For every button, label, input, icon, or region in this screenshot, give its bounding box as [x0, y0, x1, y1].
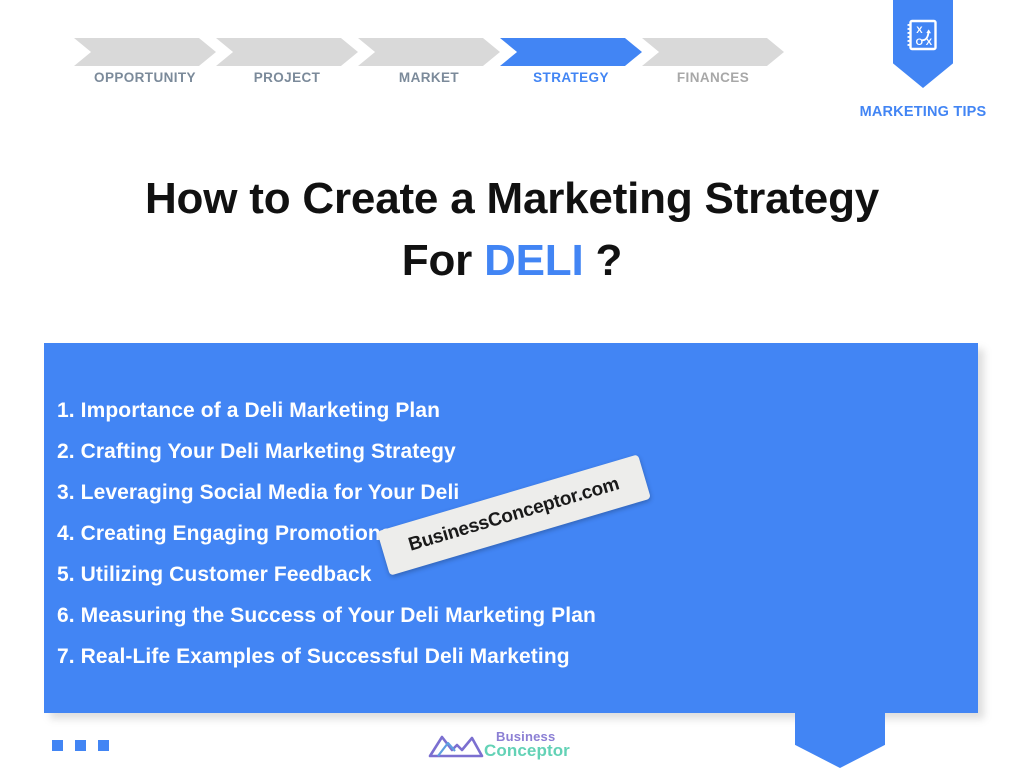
- step-label-project: PROJECT: [216, 70, 358, 85]
- chevron-shape-finances: [642, 38, 784, 66]
- marketing-tips-label: MARKETING TIPS: [849, 104, 997, 120]
- list-item: 7. Real-Life Examples of Successful Deli…: [57, 636, 968, 677]
- footer-logo: Business Conceptor: [428, 728, 598, 764]
- footer-logo-bottom: Conceptor: [484, 741, 570, 761]
- list-item: 5. Utilizing Customer Feedback: [57, 554, 968, 595]
- step-label-market: MARKET: [358, 70, 500, 85]
- chevron-shape-market: [358, 38, 500, 66]
- step-finances[interactable]: FINANCES: [642, 38, 790, 94]
- step-label-strategy: STRATEGY: [500, 70, 642, 85]
- title-suffix: ?: [584, 236, 623, 285]
- svg-text:O: O: [916, 37, 923, 48]
- step-strategy[interactable]: STRATEGY: [500, 38, 648, 94]
- footer-logo-wordmark: Business Conceptor: [484, 728, 598, 764]
- step-market[interactable]: MARKET: [358, 38, 506, 94]
- step-label-finances: FINANCES: [642, 70, 784, 85]
- svg-text:X: X: [916, 25, 923, 36]
- step-label-opportunity: OPPORTUNITY: [74, 70, 216, 85]
- marketing-tips-badge: X O X MARKETING TIPS: [893, 0, 953, 88]
- chevron-shape-strategy: [500, 38, 642, 66]
- mountain-peaks-icon: [428, 732, 484, 760]
- strategy-playbook-icon: X O X: [904, 16, 942, 54]
- chevron-shape-project: [216, 38, 358, 66]
- title-prefix: For: [402, 236, 484, 285]
- list-item: 6. Measuring the Success of Your Deli Ma…: [57, 595, 968, 636]
- decor-squares: [52, 740, 109, 751]
- list-item: 1. Importance of a Deli Marketing Plan: [57, 390, 968, 431]
- slide-canvas: OPPORTUNITY PROJECT MARKET STRATEGY FINA…: [0, 0, 1024, 768]
- decor-square: [52, 740, 63, 751]
- title-line-2: For DELI ?: [62, 230, 962, 292]
- chevron-shape-opportunity: [74, 38, 216, 66]
- progress-steps: OPPORTUNITY PROJECT MARKET STRATEGY FINA…: [74, 38, 814, 94]
- title-line-1: How to Create a Marketing Strategy: [62, 168, 962, 230]
- title-accent-deli: DELI: [484, 236, 583, 285]
- list-item: 2. Crafting Your Deli Marketing Strategy: [57, 431, 968, 472]
- step-project[interactable]: PROJECT: [216, 38, 364, 94]
- step-opportunity[interactable]: OPPORTUNITY: [74, 38, 222, 94]
- decor-square: [98, 740, 109, 751]
- page-title: How to Create a Marketing Strategy For D…: [62, 168, 962, 293]
- decor-square: [75, 740, 86, 751]
- bottom-ribbon-decor: [795, 713, 885, 768]
